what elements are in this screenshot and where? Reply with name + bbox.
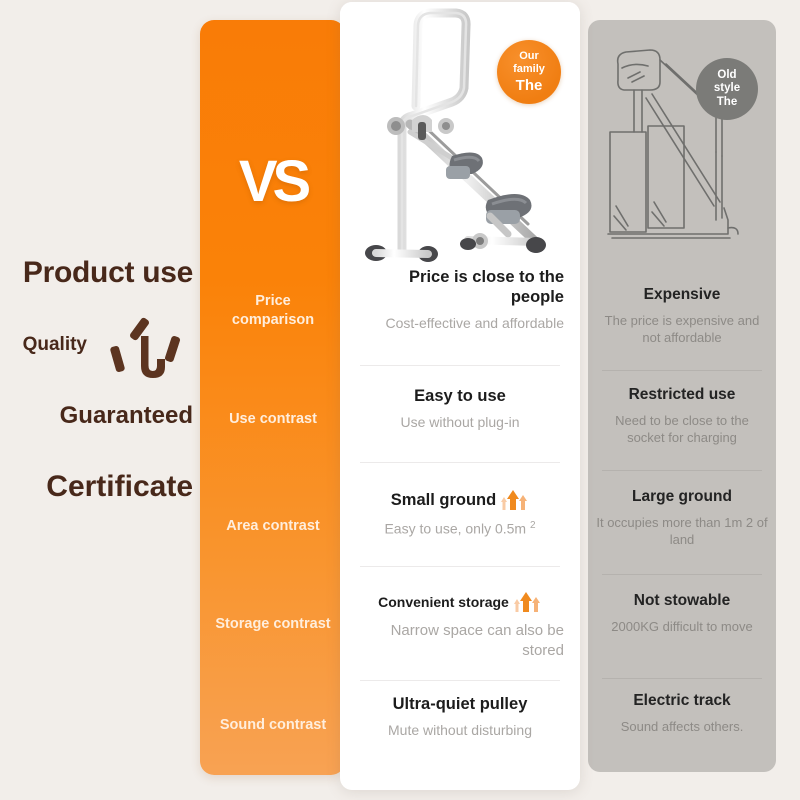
badge-line-1: Old (717, 69, 736, 83)
our-family-badge: Our family The (497, 40, 561, 104)
headline-guaranteed: Guaranteed (60, 402, 193, 430)
our-row-price-subtitle: Cost-effective and affordable (356, 314, 564, 332)
our-row-use-title: Easy to use (356, 386, 564, 406)
headline-certificate: Certificate (46, 470, 193, 504)
old-row-price-title: Expensive (596, 286, 768, 305)
old-row-area-title: Large ground (596, 488, 768, 507)
our-row-storage-title: Convenient storage (378, 594, 509, 610)
badge-line-3: The (516, 77, 543, 95)
badge-line-2: family (513, 63, 545, 76)
up-arrows-icon (512, 591, 542, 613)
old-row-price: Expensive The price is expensive and not… (596, 286, 768, 346)
old-row-sound: Electric track Sound affects others. (596, 692, 768, 735)
our-row-use-subtitle: Use without plug-in (356, 413, 564, 431)
our-product-column: Our family The Price is close to the peo… (340, 2, 580, 790)
headline-quality: Quality (23, 334, 87, 356)
our-row-use: Easy to use Use without plug-in (356, 386, 564, 431)
old-style-badge: Old style The (696, 58, 758, 120)
row-divider (360, 680, 560, 681)
our-row-storage: Convenient storage Narrow space can also… (356, 592, 564, 660)
up-arrows-icon (499, 489, 529, 511)
vs-label: VS (200, 148, 345, 215)
our-row-storage-subtitle: Narrow space can also be stored (356, 621, 564, 660)
badge-line-1: Our (519, 50, 539, 63)
vs-row-label-area: Area contrast (214, 517, 332, 536)
left-headline-block: Product use Quality Guaranteed Certifica… (0, 248, 205, 528)
our-row-sound-subtitle: Mute without disturbing (356, 721, 564, 739)
badge-line-3: The (717, 96, 737, 110)
our-row-price: Price is close to the people Cost-effect… (356, 267, 564, 332)
our-row-area-subtitle-text: Easy to use, only 0.5m (384, 521, 526, 537)
vs-row-label-price: Price comparison (214, 292, 332, 330)
headline-product-use: Product use (23, 256, 193, 290)
our-row-price-title: Price is close to the people (356, 267, 564, 307)
old-row-storage: Not stowable 2000KG difficult to move (596, 592, 768, 635)
our-row-area-subtitle: Easy to use, only 0.5m 2 (356, 519, 564, 538)
vs-row-label-storage: Storage contrast (214, 615, 332, 634)
row-divider (360, 462, 560, 463)
row-divider (602, 574, 762, 575)
old-row-area-subtitle: It occupies more than 1m 2 of land (596, 514, 768, 548)
old-row-area: Large ground It occupies more than 1m 2 … (596, 488, 768, 548)
old-row-use: Restricted use Need to be close to the s… (596, 386, 768, 446)
vs-row-label-use: Use contrast (214, 410, 332, 429)
our-row-sound-title: Ultra-quiet pulley (356, 694, 564, 714)
old-product-column: Old style The Expensive The price is exp… (588, 20, 776, 772)
row-divider (360, 365, 560, 366)
mind-heart-icon (105, 314, 191, 386)
our-row-area: Small ground Easy to use, only 0.5m 2 (356, 490, 564, 538)
row-divider (360, 566, 560, 567)
row-divider (602, 470, 762, 471)
old-row-sound-subtitle: Sound affects others. (596, 718, 768, 735)
badge-line-2: style (714, 82, 740, 96)
old-row-storage-title: Not stowable (596, 592, 768, 611)
our-row-area-superscript: 2 (530, 520, 536, 531)
vs-column: VS Price comparison Use contrast Area co… (200, 20, 345, 775)
old-row-use-title: Restricted use (596, 386, 768, 405)
our-row-sound: Ultra-quiet pulley Mute without disturbi… (356, 694, 564, 739)
our-row-area-title: Small ground (391, 491, 496, 509)
old-row-storage-subtitle: 2000KG difficult to move (596, 618, 768, 635)
row-divider (602, 678, 762, 679)
our-product-photo (340, 2, 580, 264)
row-divider (602, 370, 762, 371)
old-row-price-subtitle: The price is expensive and not affordabl… (596, 312, 768, 346)
old-row-use-subtitle: Need to be close to the socket for charg… (596, 412, 768, 446)
old-row-sound-title: Electric track (596, 692, 768, 711)
old-product-photo (588, 20, 776, 282)
vs-row-label-sound: Sound contrast (214, 716, 332, 735)
